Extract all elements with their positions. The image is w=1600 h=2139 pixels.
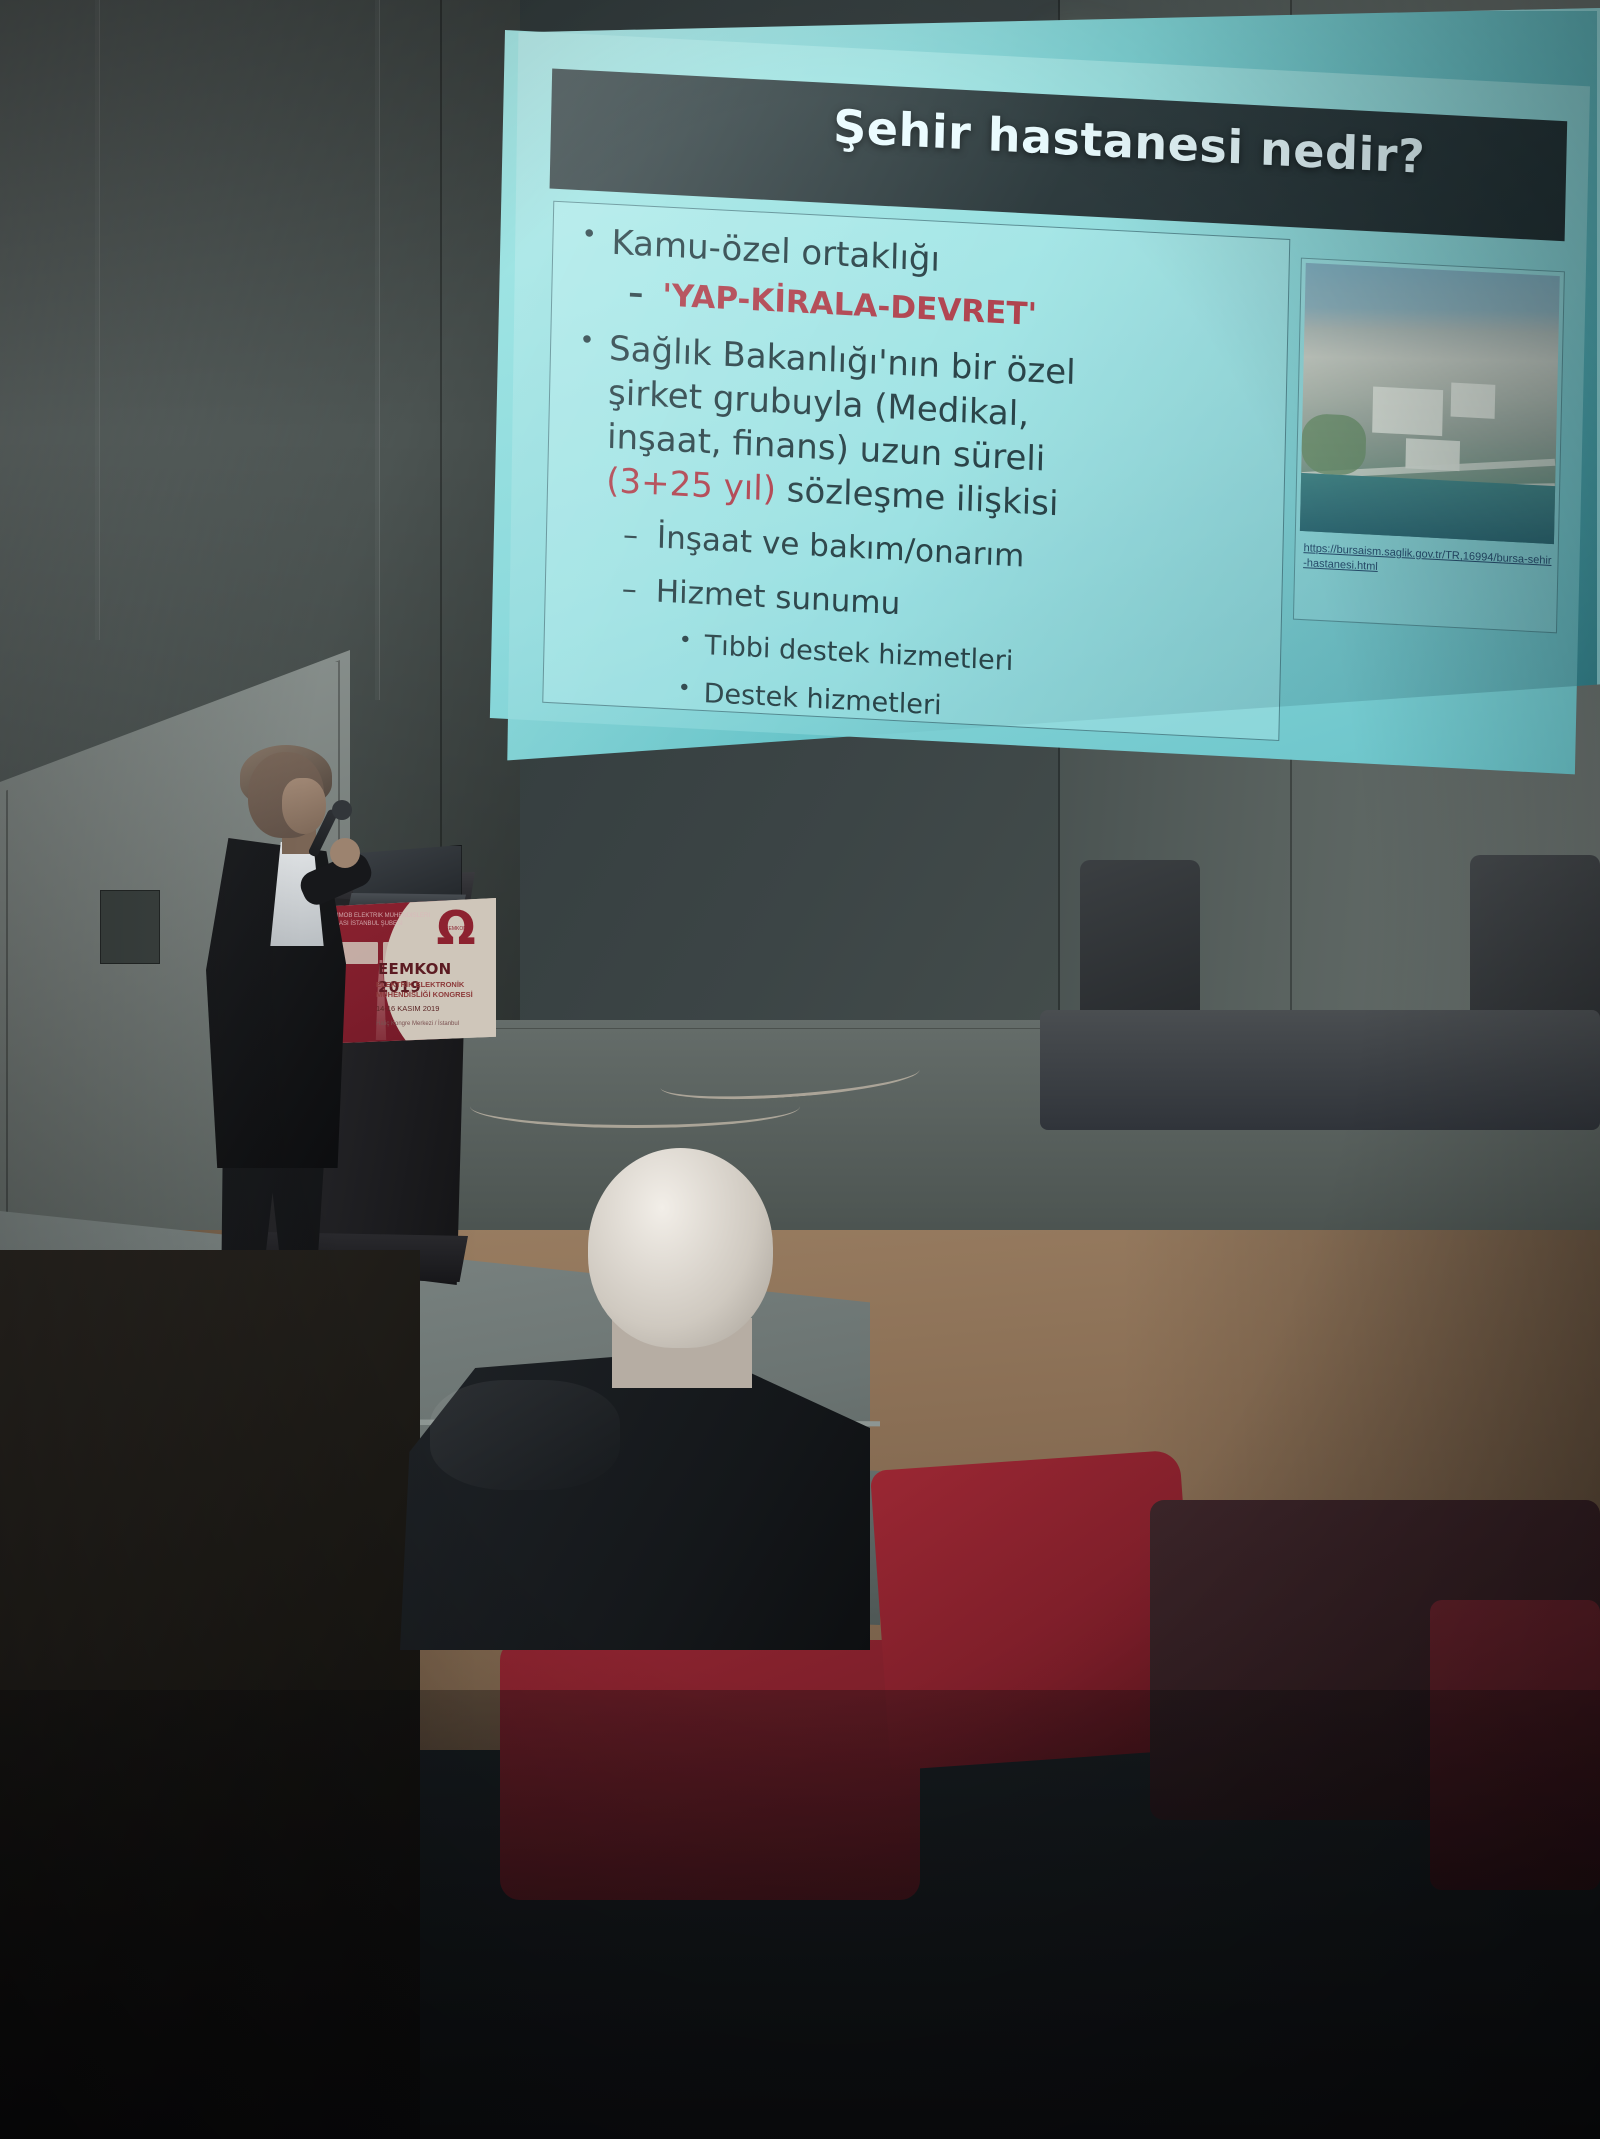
sign-organizer-text: TMMOB ELEKTRİK MÜHENDİSLERİ ODASI İSTANB… [330, 912, 440, 928]
bullet-kamu-ozel: Kamu-özel ortaklığı [611, 223, 940, 280]
audience-shoulder-highlight [430, 1380, 620, 1490]
bullet-destek-hizmetleri: Destek hizmetleri [703, 678, 942, 721]
chair-row-background [1040, 1010, 1600, 1130]
slide-plane: Şehir hastanesi nedir? Kamu-özel ortaklı… [490, 30, 1590, 786]
sign-subtitle-line1: ELEKTRİK ELEKTRONİK [376, 980, 488, 990]
sure-highlight: (3+25 yıl) [606, 461, 777, 510]
audience-member-head [588, 1148, 773, 1348]
sign-event-date: 14-16 KASIM 2019 [376, 1004, 488, 1014]
microphone-head-icon [332, 800, 352, 820]
bullet-insaat-bakim: İnşaat ve bakım/onarım [657, 519, 1025, 574]
aerial-building-2 [1451, 383, 1496, 419]
speaker-hand [330, 838, 360, 868]
sign-subtitle: ELEKTRİK ELEKTRONİK MÜHENDİSLİĞİ KONGRES… [376, 980, 488, 1000]
slide-photo-box: https://bursaism.saglik.gov.tr/TR,16994/… [1293, 258, 1565, 634]
bullet-yap-kirala-devret: 'YAP-KİRALA-DEVRET' [662, 277, 1037, 332]
conference-photo-scene: Şehir hastanesi nedir? Kamu-özel ortaklı… [0, 0, 1600, 2139]
wall-plate [100, 890, 160, 964]
projection-screen: Şehir hastanesi nedir? Kamu-özel ortaklı… [485, 8, 1600, 768]
wall-panel-1 [95, 0, 100, 640]
speaker-face [282, 778, 326, 834]
photo-source-link[interactable]: https://bursaism.saglik.gov.tr/TR,16994/… [1303, 541, 1554, 584]
omega-logo-subtext: EEMKON [438, 926, 474, 932]
sign-subtitle-line2: MÜHENDİSLİĞİ KONGRESİ [376, 990, 488, 1000]
aerial-green-1 [1301, 413, 1366, 476]
aerial-building-1 [1372, 387, 1443, 437]
bullet-tibbi-destek: Tıbbi destek hizmetleri [704, 630, 1013, 677]
sign-event-venue: Haliç Kongre Merkezi / İstanbul [376, 1020, 488, 1028]
aerial-water [1300, 473, 1555, 544]
wall-panel-2 [375, 0, 380, 700]
bullet-hizmet-sunumu: Hizmet sunumu [655, 573, 900, 622]
slide: Şehir hastanesi nedir? Kamu-özel ortaklı… [490, 30, 1590, 774]
slide-body-box: Kamu-özel ortaklığı 'YAP-KİRALA-DEVRET' … [542, 201, 1290, 741]
aerial-photo [1300, 263, 1560, 544]
foreground-shadow-bottom [0, 1690, 1600, 2139]
